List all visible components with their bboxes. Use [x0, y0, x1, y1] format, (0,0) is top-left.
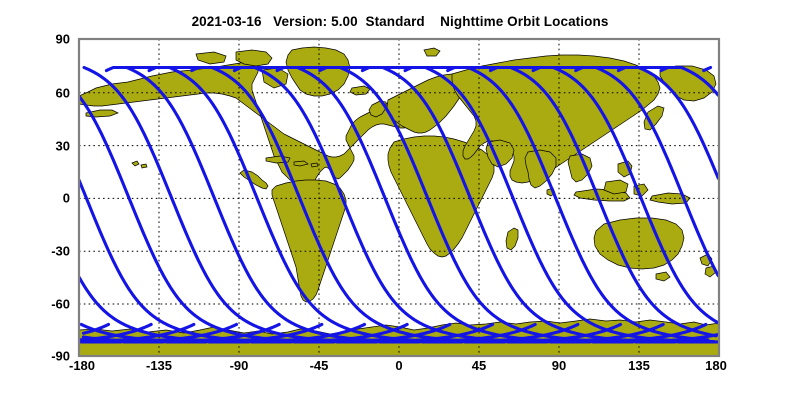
orbit-map-figure: 2021-03-16 Version: 5.00 Standard Nightt…: [0, 0, 800, 400]
xtick-m135: -135: [129, 358, 189, 373]
map-svg: [0, 0, 800, 400]
ytick-m60: -60: [24, 297, 70, 312]
land-puerto-rico: [311, 163, 318, 167]
xtick-135: 135: [609, 358, 669, 373]
ytick-90: 90: [24, 32, 70, 47]
xtick-m180: -180: [52, 358, 112, 373]
ytick-60: 60: [24, 85, 70, 100]
xtick-180: 180: [686, 358, 746, 373]
xtick-m90: -90: [209, 358, 269, 373]
xtick-0: 0: [369, 358, 429, 373]
land-hawaii-2: [141, 164, 147, 168]
ytick-30: 30: [24, 138, 70, 153]
xtick-45: 45: [449, 358, 509, 373]
xtick-m45: -45: [289, 358, 349, 373]
plot-area: 90 60 30 0 -30 -60 -90 -180 -135 -90 -45…: [0, 0, 800, 400]
xtick-90: 90: [529, 358, 589, 373]
ytick-m30: -30: [24, 244, 70, 259]
ytick-0: 0: [24, 191, 70, 206]
